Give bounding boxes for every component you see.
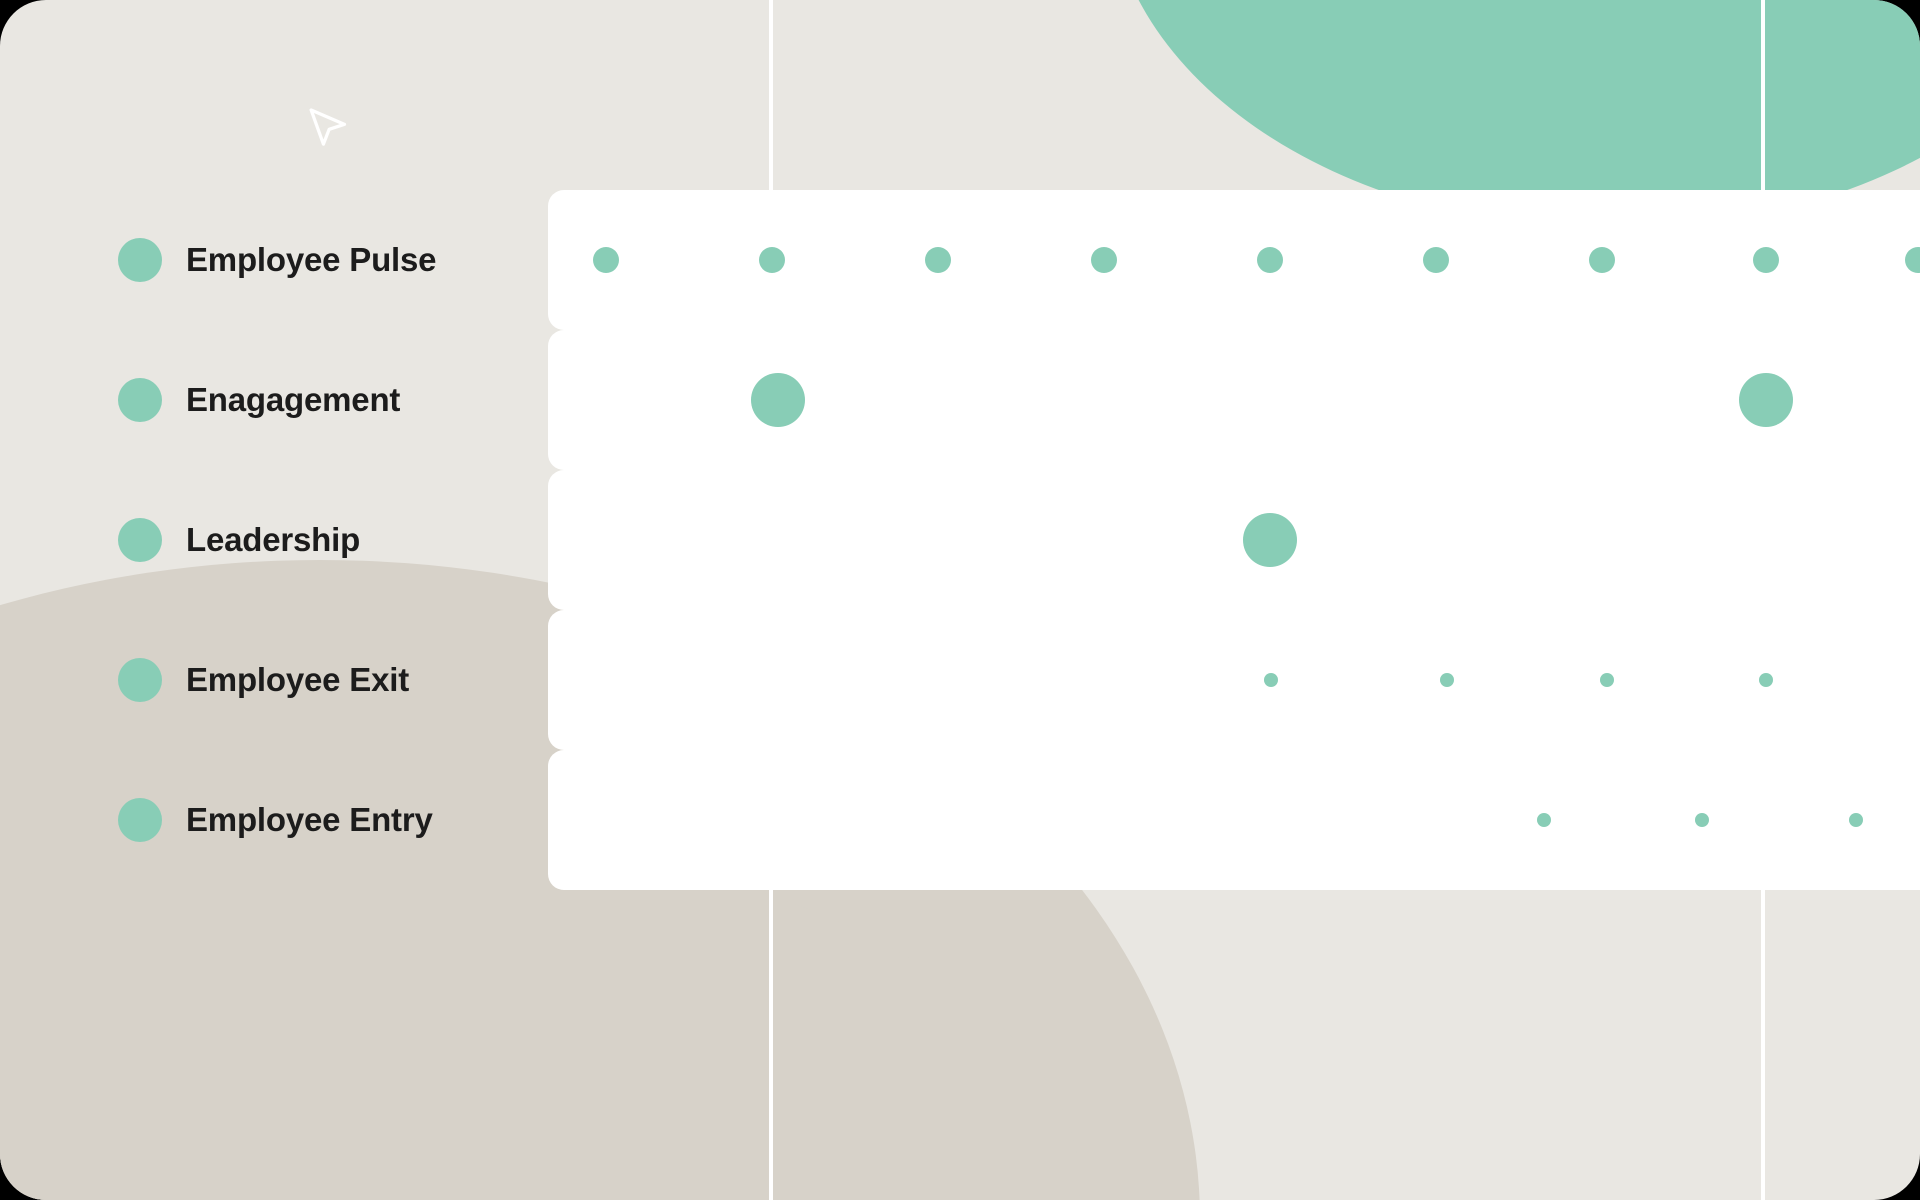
row-track[interactable] [548,190,1920,330]
row-legend-1[interactable]: Employee Pulse [118,190,436,330]
row-track[interactable] [548,750,1920,890]
data-point-marker[interactable] [1264,673,1278,687]
timeline-row[interactable]: Employee Pulse [0,190,1920,330]
data-point-marker[interactable] [925,247,951,273]
data-point-marker[interactable] [1537,813,1551,827]
row-label: Enagagement [186,381,400,419]
timeline-row[interactable]: Enagagement [0,330,1920,470]
data-point-marker[interactable] [1257,247,1283,273]
row-track[interactable] [548,610,1920,750]
legend-bullet-icon [118,378,162,422]
row-track[interactable] [548,330,1920,470]
data-point-marker[interactable] [759,247,785,273]
data-point-marker[interactable] [1759,673,1773,687]
data-point-marker[interactable] [1243,513,1297,567]
timeline-row[interactable]: Employee Exit [0,610,1920,750]
data-point-marker[interactable] [1849,813,1863,827]
legend-bullet-icon [118,238,162,282]
row-track[interactable] [548,470,1920,610]
data-point-marker[interactable] [1695,813,1709,827]
row-label: Leadership [186,521,360,559]
row-label: Employee Exit [186,661,409,699]
data-point-marker[interactable] [593,247,619,273]
data-point-marker[interactable] [1905,247,1920,273]
data-point-marker[interactable] [1600,673,1614,687]
row-legend-4[interactable]: Employee Exit [118,610,409,750]
row-legend-2[interactable]: Enagagement [118,330,400,470]
timeline-row[interactable]: Employee Entry [0,750,1920,890]
legend-bullet-icon [118,658,162,702]
data-point-marker[interactable] [1753,247,1779,273]
legend-bullet-icon [118,518,162,562]
mouse-pointer-icon [305,105,351,151]
row-label: Employee Pulse [186,241,436,279]
row-label: Employee Entry [186,801,433,839]
data-point-marker[interactable] [1739,373,1793,427]
row-legend-3[interactable]: Leadership [118,470,360,610]
data-point-marker[interactable] [1423,247,1449,273]
timeline-rows: Employee PulseEnagagementLeadershipEmplo… [0,0,1920,1200]
row-legend-5[interactable]: Employee Entry [118,750,433,890]
timeline-row[interactable]: Leadership [0,470,1920,610]
data-point-marker[interactable] [1589,247,1615,273]
data-point-marker[interactable] [751,373,805,427]
data-point-marker[interactable] [1440,673,1454,687]
legend-bullet-icon [118,798,162,842]
timeline-board-canvas: Employee PulseEnagagementLeadershipEmplo… [0,0,1920,1200]
screenshot-stage: Employee PulseEnagagementLeadershipEmplo… [0,0,1920,1200]
data-point-marker[interactable] [1091,247,1117,273]
